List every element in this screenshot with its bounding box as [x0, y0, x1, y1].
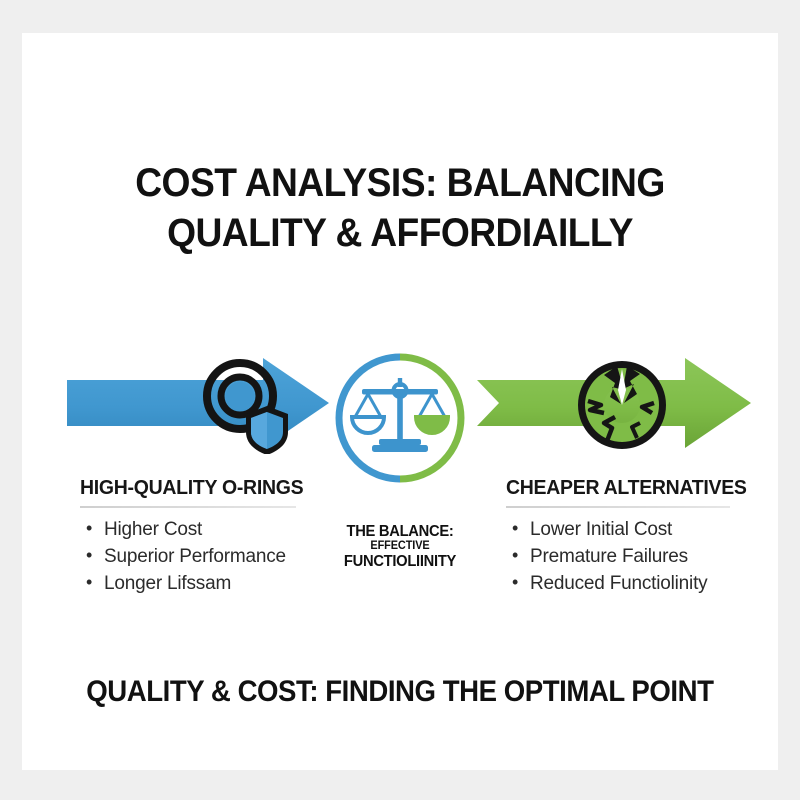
title-line-1: COST ANALYSIS: BALANCING — [48, 158, 751, 208]
title-line-2: QUALITY & AFFORDIAILLY — [48, 208, 751, 258]
list-item: Lower Initial Cost — [510, 516, 707, 543]
flow-band — [22, 338, 778, 468]
footer-block: QUALITY & COST: FINDING THE OPTIMAL POIN… — [22, 673, 778, 711]
list-item: Longer Lifssam — [84, 570, 286, 597]
list-item: Reduced Functiolinity — [510, 570, 707, 597]
left-arrow-group — [67, 338, 332, 468]
infographic-card: COST ANALYSIS: BALANCING QUALITY & AFFOR… — [22, 33, 778, 770]
center-caption-line-2: EFFECTIVE — [326, 540, 474, 553]
right-arrow-group — [477, 338, 757, 468]
footer-text: QUALITY & COST: FINDING THE OPTIMAL POIN… — [86, 673, 713, 711]
right-heading-divider — [506, 506, 730, 508]
left-heading-divider — [80, 506, 296, 508]
right-column-bullets: Lower Initial Cost Premature Failures Re… — [510, 516, 707, 597]
infographic-root: COST ANALYSIS: BALANCING QUALITY & AFFOR… — [0, 0, 800, 800]
page-title: COST ANALYSIS: BALANCING QUALITY & AFFOR… — [22, 158, 778, 258]
broken-ring-icon — [574, 357, 670, 453]
center-caption-line-1: THE BALANCE: — [326, 523, 474, 540]
list-item: Superior Performance — [84, 543, 286, 570]
target-shield-icon — [195, 354, 295, 454]
balance-scale-icon — [333, 351, 467, 485]
list-item: Premature Failures — [510, 543, 707, 570]
center-caption: THE BALANCE: EFFECTIVE FUNCTIOLIINITY — [322, 523, 478, 570]
center-caption-line-3: FUNCTIOLIINITY — [326, 553, 474, 570]
right-column-heading: CHEAPER ALTERNATIVES — [506, 476, 747, 500]
list-item: Higher Cost — [84, 516, 286, 543]
left-column-bullets: Higher Cost Superior Performance Longer … — [84, 516, 286, 597]
left-column-heading: HIGH-QUALITY O-RINGS — [80, 476, 303, 500]
